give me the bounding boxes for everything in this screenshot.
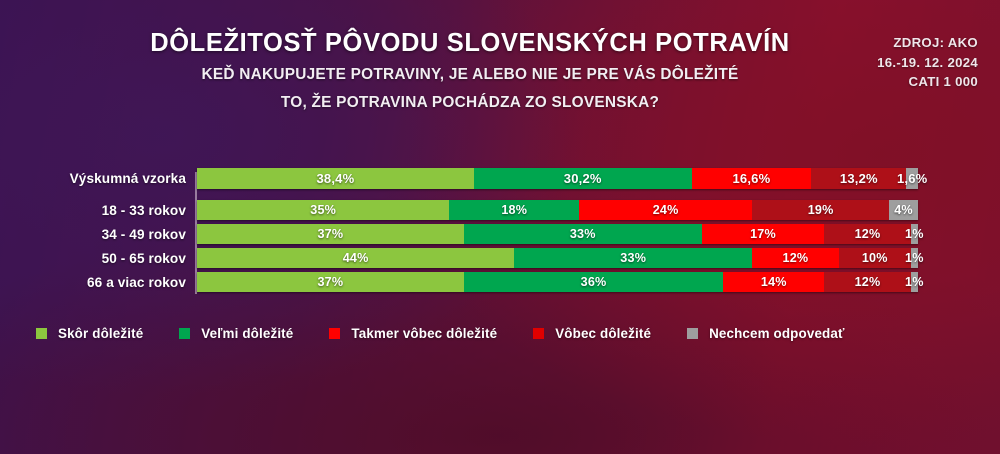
bar-segment: 24% bbox=[579, 200, 752, 220]
title-block: DÔLEŽITOSŤ PÔVODU SLOVENSKÝCH POTRAVÍN K… bbox=[120, 28, 820, 114]
bar-segment: 1,6% bbox=[906, 168, 918, 189]
stacked-bar: 35%18%24%19%4% bbox=[197, 200, 918, 220]
infographic-page: DÔLEŽITOSŤ PÔVODU SLOVENSKÝCH POTRAVÍN K… bbox=[0, 0, 1000, 454]
bar-segment: 16,6% bbox=[692, 168, 812, 189]
legend-label: Takmer vôbec dôležité bbox=[351, 326, 497, 341]
bar-segment-value: 1% bbox=[905, 251, 924, 265]
bar-segment: 1% bbox=[911, 248, 918, 268]
bar-segment-value: 30,2% bbox=[564, 171, 602, 186]
legend-swatch-icon bbox=[329, 328, 340, 339]
chart-header: DÔLEŽITOSŤ PÔVODU SLOVENSKÝCH POTRAVÍN K… bbox=[0, 0, 1000, 140]
chart-row: 18 - 33 rokov35%18%24%19%4% bbox=[0, 200, 1000, 220]
bar-segment-value: 24% bbox=[653, 203, 679, 217]
bar-segment-value: 36% bbox=[581, 275, 607, 289]
bar-segment: 1% bbox=[911, 224, 918, 244]
chart-row: 50 - 65 rokov44%33%12%10%1% bbox=[0, 248, 1000, 268]
bar-segment-value: 16,6% bbox=[732, 171, 770, 186]
bar-segment: 4% bbox=[889, 200, 918, 220]
bar-segment-value: 18% bbox=[501, 203, 527, 217]
row-label: Výskumná vzorka bbox=[0, 171, 186, 186]
legend-item[interactable]: Skôr dôležité bbox=[36, 326, 143, 341]
bar-segment-value: 35% bbox=[310, 203, 336, 217]
bar-segment-value: 1% bbox=[905, 275, 924, 289]
bar-segment: 13,2% bbox=[811, 168, 906, 189]
bar-segment: 19% bbox=[752, 200, 889, 220]
bar-segment-value: 19% bbox=[808, 203, 834, 217]
source-method: CATI 1 000 bbox=[877, 72, 978, 92]
stacked-bar: 44%33%12%10%1% bbox=[197, 248, 918, 268]
bar-segment: 35% bbox=[197, 200, 449, 220]
bar-segment-value: 1,6% bbox=[897, 171, 927, 186]
bar-segment-value: 12% bbox=[855, 227, 881, 241]
legend-label: Skôr dôležité bbox=[58, 326, 143, 341]
legend-item[interactable]: Nechcem odpovedať bbox=[687, 326, 844, 341]
bar-segment-value: 14% bbox=[761, 275, 787, 289]
bar-segment: 36% bbox=[464, 272, 724, 292]
legend-swatch-icon bbox=[36, 328, 47, 339]
source-dates: 16.-19. 12. 2024 bbox=[877, 53, 978, 73]
stacked-bar: 37%36%14%12%1% bbox=[197, 272, 918, 292]
row-label: 34 - 49 rokov bbox=[0, 227, 186, 242]
bar-segment-value: 13,2% bbox=[840, 171, 878, 186]
chart-rows: Výskumná vzorka38,4%30,2%16,6%13,2%1,6%1… bbox=[0, 168, 1000, 296]
legend-label: Veľmi dôležité bbox=[201, 326, 293, 341]
source-block: ZDROJ: AKO 16.-19. 12. 2024 CATI 1 000 bbox=[877, 33, 978, 92]
legend-label: Nechcem odpovedať bbox=[709, 326, 844, 341]
legend-item[interactable]: Takmer vôbec dôležité bbox=[329, 326, 497, 341]
subtitle-line-1: KEĎ NAKUPUJETE POTRAVINY, JE ALEBO NIE J… bbox=[120, 64, 820, 86]
bar-segment: 1% bbox=[911, 272, 918, 292]
bar-segment-value: 33% bbox=[570, 227, 596, 241]
chart-row: 66 a viac rokov37%36%14%12%1% bbox=[0, 272, 1000, 292]
bar-segment-value: 38,4% bbox=[316, 171, 354, 186]
page-title: DÔLEŽITOSŤ PÔVODU SLOVENSKÝCH POTRAVÍN bbox=[120, 28, 820, 58]
bar-segment-value: 17% bbox=[750, 227, 776, 241]
bar-segment: 12% bbox=[824, 224, 911, 244]
bar-segment: 10% bbox=[839, 248, 911, 268]
row-label: 66 a viac rokov bbox=[0, 275, 186, 290]
legend-item[interactable]: Vôbec dôležité bbox=[533, 326, 651, 341]
bar-segment-value: 37% bbox=[317, 227, 343, 241]
footer-background bbox=[0, 352, 1000, 454]
chart-legend: Skôr dôležitéVeľmi dôležitéTakmer vôbec … bbox=[0, 318, 1000, 348]
bar-segment-value: 12% bbox=[855, 275, 881, 289]
bar-segment: 38,4% bbox=[197, 168, 474, 189]
bar-segment: 37% bbox=[197, 224, 464, 244]
bar-segment-value: 12% bbox=[783, 251, 809, 265]
legend-swatch-icon bbox=[687, 328, 698, 339]
stacked-bar: 37%33%17%12%1% bbox=[197, 224, 918, 244]
bar-segment: 33% bbox=[464, 224, 702, 244]
bar-segment: 30,2% bbox=[474, 168, 692, 189]
bar-segment: 44% bbox=[197, 248, 514, 268]
bar-segment-value: 10% bbox=[862, 251, 888, 265]
chart-row: Výskumná vzorka38,4%30,2%16,6%13,2%1,6% bbox=[0, 168, 1000, 189]
bar-segment: 17% bbox=[702, 224, 825, 244]
bar-segment-value: 44% bbox=[343, 251, 369, 265]
bar-segment-value: 1% bbox=[905, 227, 924, 241]
legend-item[interactable]: Veľmi dôležité bbox=[179, 326, 293, 341]
row-label: 50 - 65 rokov bbox=[0, 251, 186, 266]
bar-segment: 12% bbox=[824, 272, 911, 292]
row-label: 18 - 33 rokov bbox=[0, 203, 186, 218]
stacked-bar-chart: Výskumná vzorka38,4%30,2%16,6%13,2%1,6%1… bbox=[0, 168, 1000, 298]
bar-segment-value: 33% bbox=[620, 251, 646, 265]
bar-segment-value: 4% bbox=[894, 203, 913, 217]
stacked-bar: 38,4%30,2%16,6%13,2%1,6% bbox=[197, 168, 918, 189]
legend-label: Vôbec dôležité bbox=[555, 326, 651, 341]
bar-segment: 33% bbox=[514, 248, 752, 268]
subtitle-line-2: TO, ŽE POTRAVINA POCHÁDZA ZO SLOVENSKA? bbox=[120, 92, 820, 114]
bar-segment: 14% bbox=[723, 272, 824, 292]
bar-segment-value: 37% bbox=[317, 275, 343, 289]
legend-swatch-icon bbox=[179, 328, 190, 339]
source-provider: ZDROJ: AKO bbox=[877, 33, 978, 53]
legend-swatch-icon bbox=[533, 328, 544, 339]
bar-segment: 12% bbox=[752, 248, 839, 268]
chart-row: 34 - 49 rokov37%33%17%12%1% bbox=[0, 224, 1000, 244]
bar-segment: 37% bbox=[197, 272, 464, 292]
bar-segment: 18% bbox=[449, 200, 579, 220]
